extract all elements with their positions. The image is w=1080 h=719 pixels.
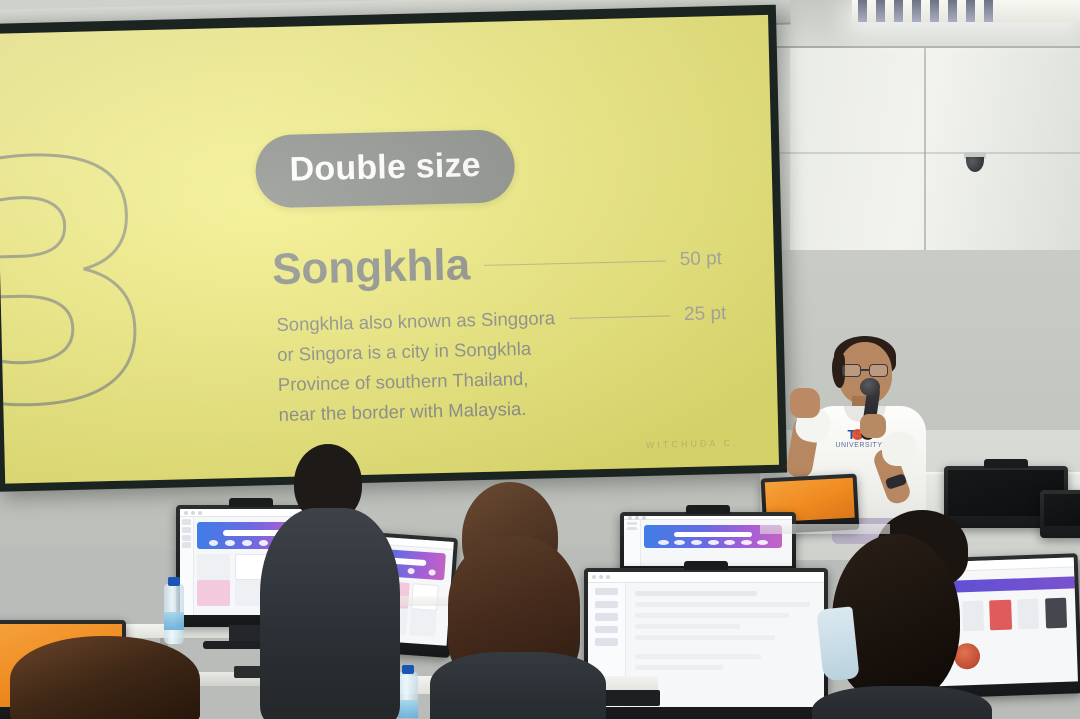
wall-right-panel xyxy=(790,40,1080,270)
slide-heading-row: Songkhla 50 pt xyxy=(271,234,722,295)
attendee-woman-long-hair xyxy=(440,482,592,719)
shirt-logo-subtext: UNIVERSITY xyxy=(834,442,884,449)
body-leader-line xyxy=(569,315,670,318)
attendee-shoulders xyxy=(812,686,992,719)
heading-leader-line xyxy=(484,260,666,265)
water-bottle-left xyxy=(164,584,184,644)
attendee-shoulders xyxy=(430,652,606,719)
presenter-right-sleeve xyxy=(882,432,916,466)
water-bottle-front xyxy=(398,672,418,718)
attendee-front-left xyxy=(10,636,200,719)
slide-body-block: Songkhla also known as Singgora 25 pt or… xyxy=(276,299,729,430)
slide-watermark: WITCHUDA C. xyxy=(646,438,739,450)
wall-seam xyxy=(780,152,1080,154)
ceiling-light-icon xyxy=(852,0,1080,22)
slide-big-number: 3 xyxy=(0,118,154,453)
attendee-masked xyxy=(812,524,976,719)
heading-size-label: 50 pt xyxy=(679,248,722,271)
monitor-webcam-icon xyxy=(229,498,273,507)
monitor-webcam-icon xyxy=(684,561,728,570)
face-mask-icon xyxy=(816,606,859,681)
slide-heading: Songkhla xyxy=(271,240,470,295)
presentation-slide: 3 Double size Songkhla 50 pt Songkhla al… xyxy=(0,15,779,484)
attendee-man-suit xyxy=(268,444,388,719)
monitor-webcam-icon xyxy=(984,459,1028,468)
monitor-webcam-icon xyxy=(686,505,730,514)
attendee-hair xyxy=(10,636,200,719)
body-size-label: 25 pt xyxy=(684,303,727,326)
dome-security-camera-icon xyxy=(962,152,988,174)
eyeglasses-icon xyxy=(842,364,888,377)
slide-pill-title: Double size xyxy=(255,129,516,208)
attendee-shoulders xyxy=(260,508,400,719)
desk-presenter-side xyxy=(760,524,890,534)
presenter-hand xyxy=(860,414,886,438)
classroom-presentation-scene: 3 Double size Songkhla 50 pt Songkhla al… xyxy=(0,0,1080,719)
raised-fist xyxy=(790,388,820,418)
microphone-head xyxy=(860,378,880,396)
monitor-back-right-2[interactable] xyxy=(1040,490,1080,538)
projector-screen: 3 Double size Songkhla 50 pt Songkhla al… xyxy=(0,5,787,492)
